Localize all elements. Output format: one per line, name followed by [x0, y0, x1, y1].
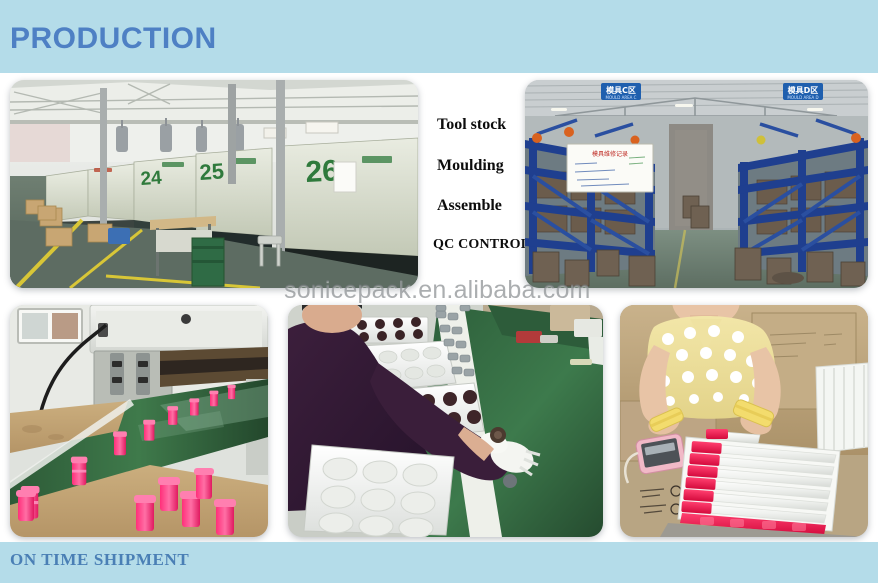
- caption-tool-stock: Tool stock: [437, 117, 506, 133]
- photo-mould-storage-image: 模具C区 MOULD AREA C 模具D区 MOULD AREA D: [525, 80, 868, 288]
- caption-assemble: Assemble: [437, 198, 502, 214]
- process-step-list: Tool stock Moulding Assemble QC CONTROL: [437, 104, 523, 266]
- svg-text:MOULD AREA D: MOULD AREA D: [787, 95, 818, 100]
- photo-conveyor-line: [10, 305, 268, 537]
- svg-text:模具C区: 模具C区: [606, 85, 636, 95]
- photo-packing-station: [620, 305, 868, 537]
- photo-moulding-machines: 24 25 26: [10, 80, 418, 288]
- caption-qc-control: QC CONTROL: [433, 238, 530, 252]
- svg-text:模具维修记录: 模具维修记录: [592, 150, 628, 158]
- svg-text:25: 25: [199, 158, 225, 185]
- caption-moulding: Moulding: [437, 158, 504, 174]
- photo-mould-storage: 模具C区 MOULD AREA C 模具D区 MOULD AREA D: [525, 80, 868, 288]
- svg-text:模具D区: 模具D区: [788, 85, 819, 95]
- svg-text:MOULD AREA C: MOULD AREA C: [606, 95, 637, 100]
- page-title: PRODUCTION: [10, 22, 217, 56]
- svg-text:24: 24: [140, 168, 163, 190]
- photo-assembly-line: [288, 305, 603, 537]
- photo-packing-station-image: [620, 305, 868, 537]
- photo-moulding-machines-image: 24 25 26: [10, 80, 418, 288]
- production-page: PRODUCTION: [0, 0, 878, 583]
- footer-title: ON TIME SHIPMENT: [10, 550, 189, 570]
- photo-assembly-line-image: [288, 305, 603, 537]
- photo-conveyor-line-image: [10, 305, 268, 537]
